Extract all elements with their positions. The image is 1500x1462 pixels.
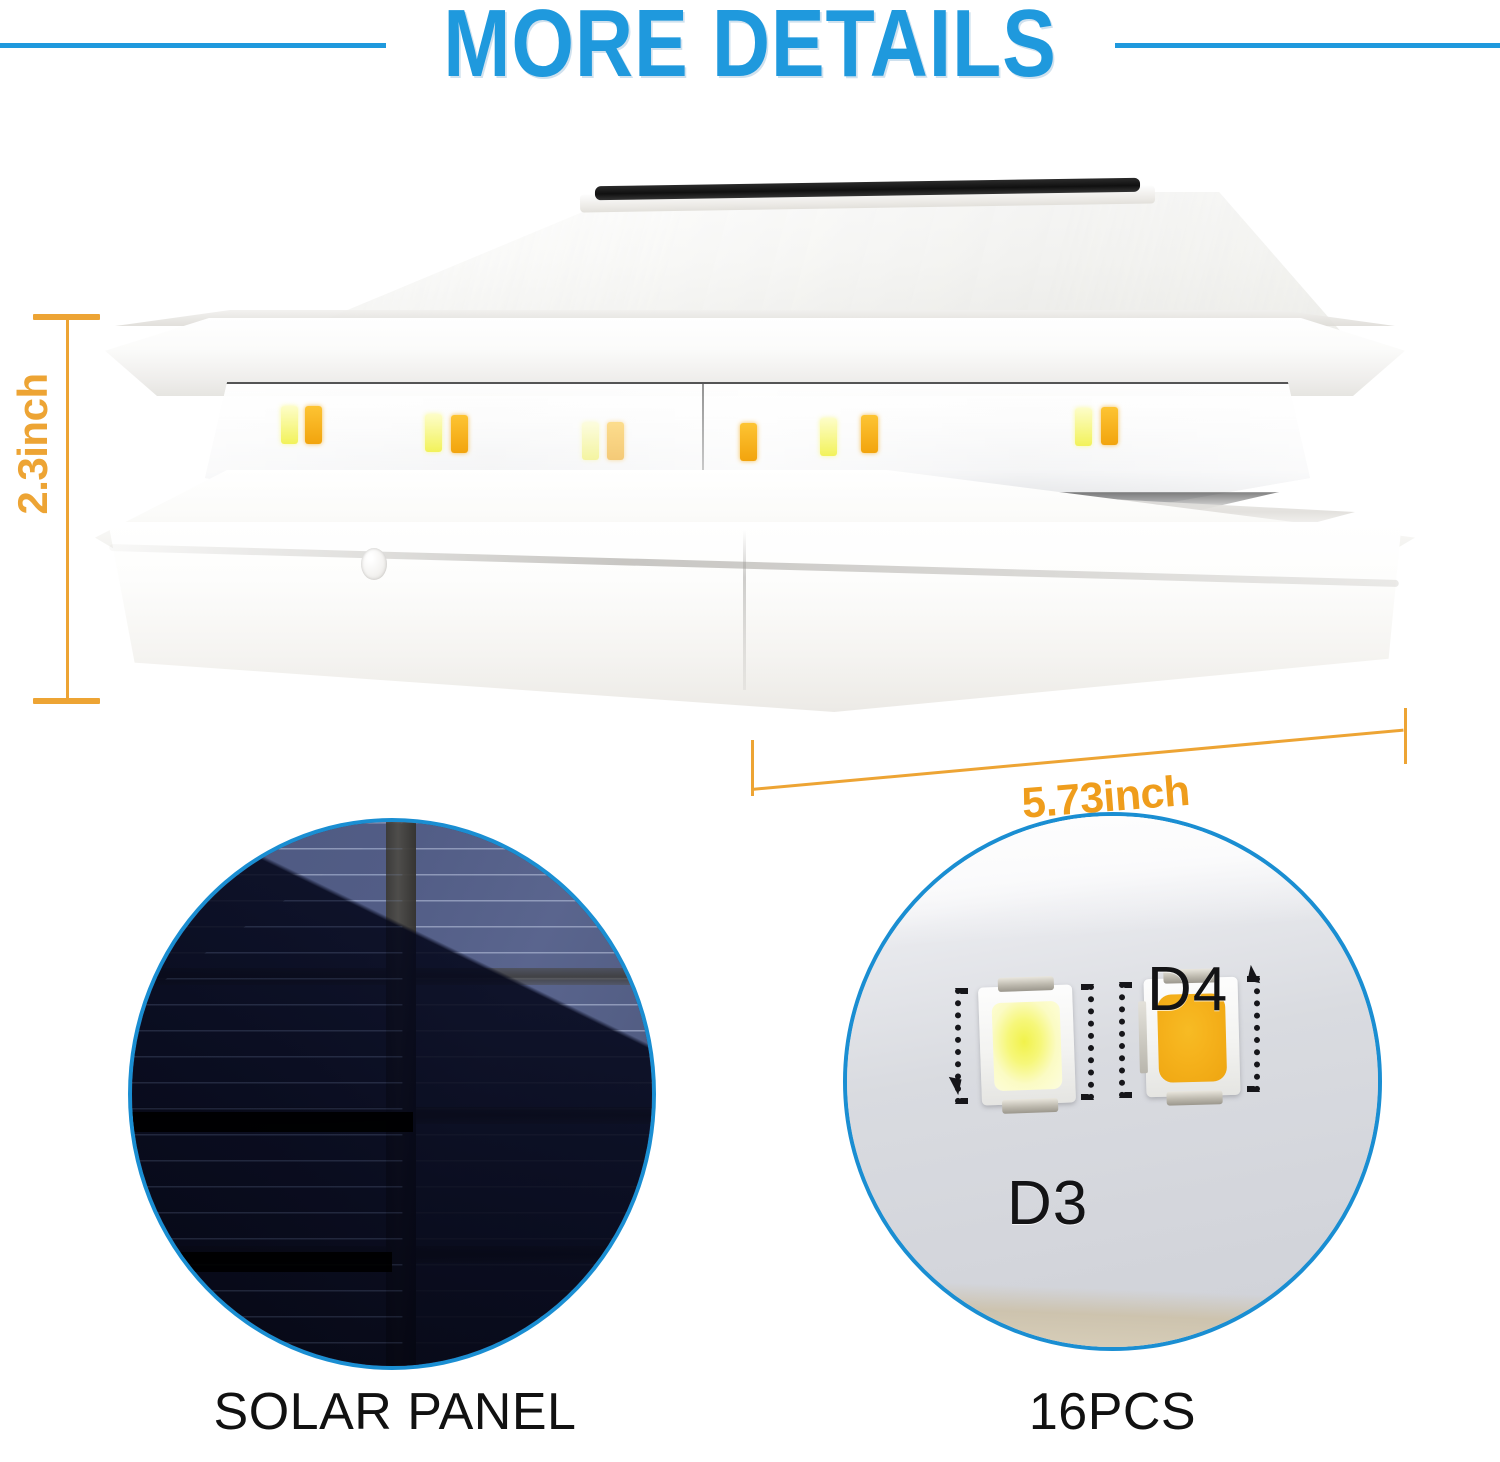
phosphor-cool-white <box>992 1001 1063 1091</box>
lens-led-chip <box>305 406 322 444</box>
lens-led-chip <box>1101 407 1118 445</box>
caption-solar-panel: SOLAR PANEL <box>0 1382 790 1442</box>
silkscreen-bracket-d4-left <box>1119 982 1132 1098</box>
chip-designator-d3: D3 <box>1007 1168 1088 1239</box>
solder-pad <box>1166 1090 1222 1105</box>
power-button[interactable] <box>361 548 387 580</box>
page-title: MORE DETAILS <box>120 0 1380 95</box>
lens-led-chip <box>740 423 757 461</box>
caption-led-count: 16PCS <box>843 1382 1382 1442</box>
height-dimension-line <box>66 316 69 702</box>
cell-dark-band <box>132 1252 392 1272</box>
chip-designator-d4: D4 <box>1147 954 1228 1025</box>
solar-panel-detail-circle <box>128 818 656 1370</box>
cell-dark-band <box>132 1112 413 1132</box>
lens-led-chip <box>425 414 442 452</box>
lens-led-chip <box>582 422 599 460</box>
solder-pad <box>998 976 1054 992</box>
silkscreen-bracket-d4-right <box>1247 976 1260 1092</box>
product-hero: 2.3inch 5.73inch <box>0 120 1500 780</box>
led-detail-circle: D3 D4 <box>843 812 1382 1351</box>
lens-led-chip <box>820 418 837 456</box>
lens-led-chip <box>1075 408 1092 446</box>
lens-led-chip <box>281 406 298 444</box>
infographic-page: MORE DETAILS <box>0 0 1500 1462</box>
post-cap-light-product <box>95 170 1415 730</box>
lens-led-chip <box>451 415 468 453</box>
solder-pad <box>1002 1098 1058 1114</box>
silkscreen-bracket-d3-right <box>1081 984 1094 1100</box>
height-dimension-label: 2.3inch <box>9 354 57 534</box>
lens-led-chip <box>607 422 624 460</box>
lens-led-chip <box>861 415 878 453</box>
base-corner-seam <box>743 530 746 690</box>
led-chip-d3 <box>978 984 1076 1105</box>
width-dimension-tick-right <box>1404 708 1407 764</box>
height-dimension-tick-bottom <box>33 698 100 704</box>
